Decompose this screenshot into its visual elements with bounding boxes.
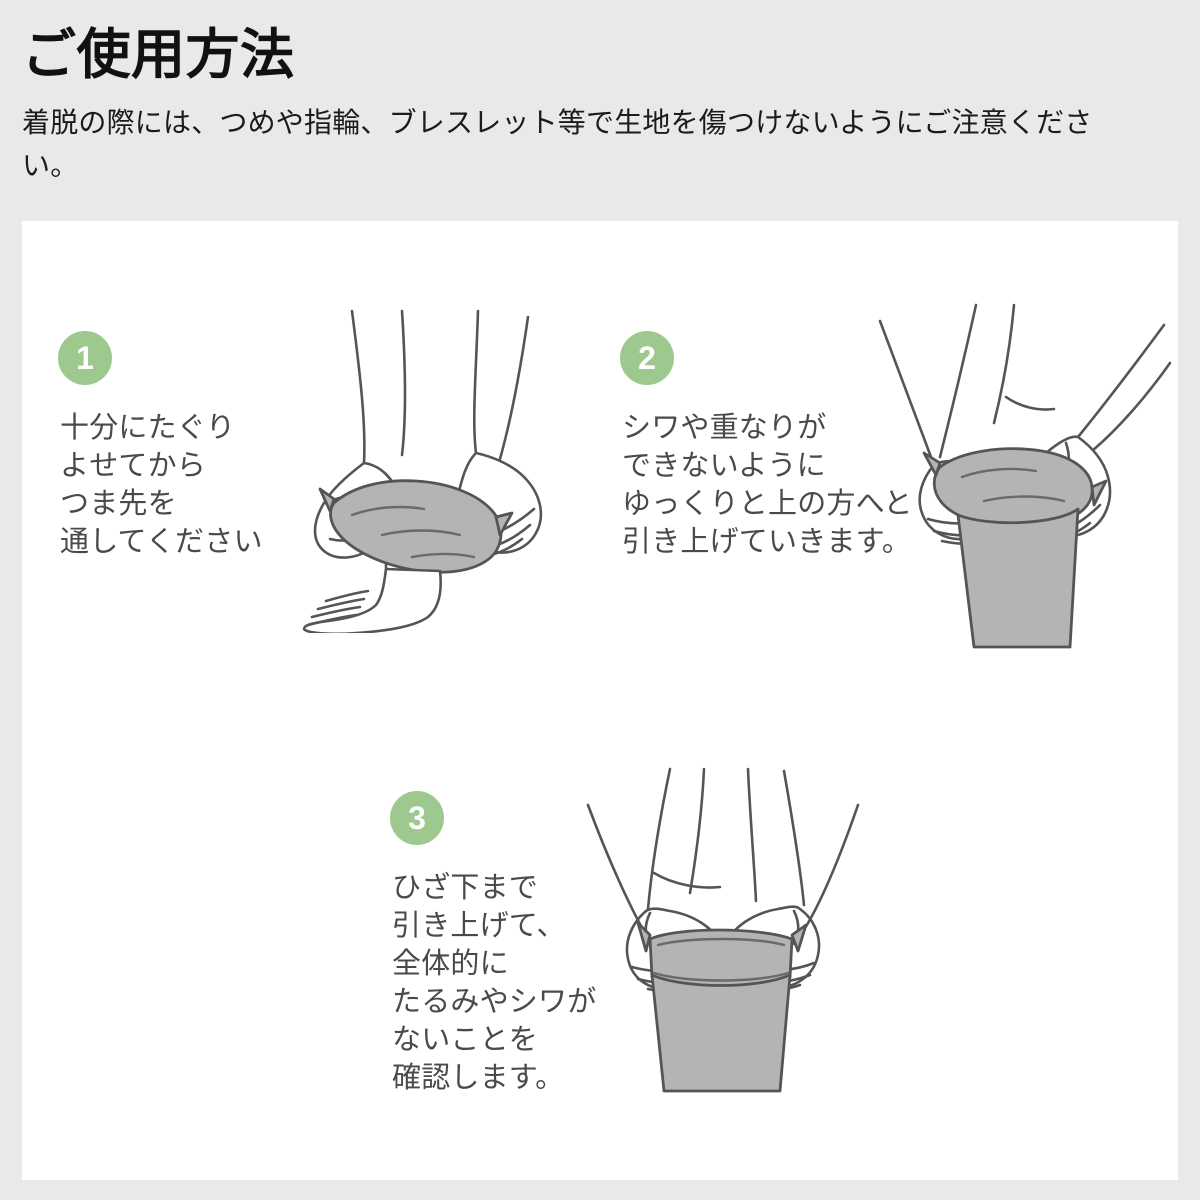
step-1-text: 十分にたぐり よせてから つま先を 通してください (60, 409, 263, 561)
step-1-badge: 1 (58, 331, 112, 385)
instruction-page: ご使用方法 着脱の際には、つめや指輪、ブレスレット等で生地を傷つけないようにご注… (0, 0, 1200, 1200)
page-subtitle: 着脱の際には、つめや指輪、ブレスレット等で生地を傷つけないようにご注意ください。 (22, 84, 1142, 187)
step-3: 3 ひざ下まで 引き上げて、 全体的に たるみやシワが ないことを 確認します。 (390, 791, 890, 1136)
step-2-text: シワや重なりが できないように ゆっくりと上の方へと 引き上げていきます。 (622, 409, 913, 561)
header: ご使用方法 着脱の際には、つめや指輪、ブレスレット等で生地を傷つけないようにご注… (22, 0, 1182, 187)
step-1-illustration (290, 303, 590, 633)
steps-card: 1 十分にたぐり よせてから つま先を 通してください (22, 221, 1178, 1180)
step-3-badge: 3 (390, 791, 444, 845)
step-3-illustration (558, 761, 888, 1111)
step-2-illustration (878, 301, 1178, 651)
step-1: 1 十分にたぐり よせてから つま先を 通してください (58, 331, 598, 661)
page-title: ご使用方法 (22, 0, 1182, 84)
step-2: 2 シワや重なりが できないように ゆっくりと上の方へと 引き上げていきます。 (620, 331, 1176, 681)
step-2-badge: 2 (620, 331, 674, 385)
